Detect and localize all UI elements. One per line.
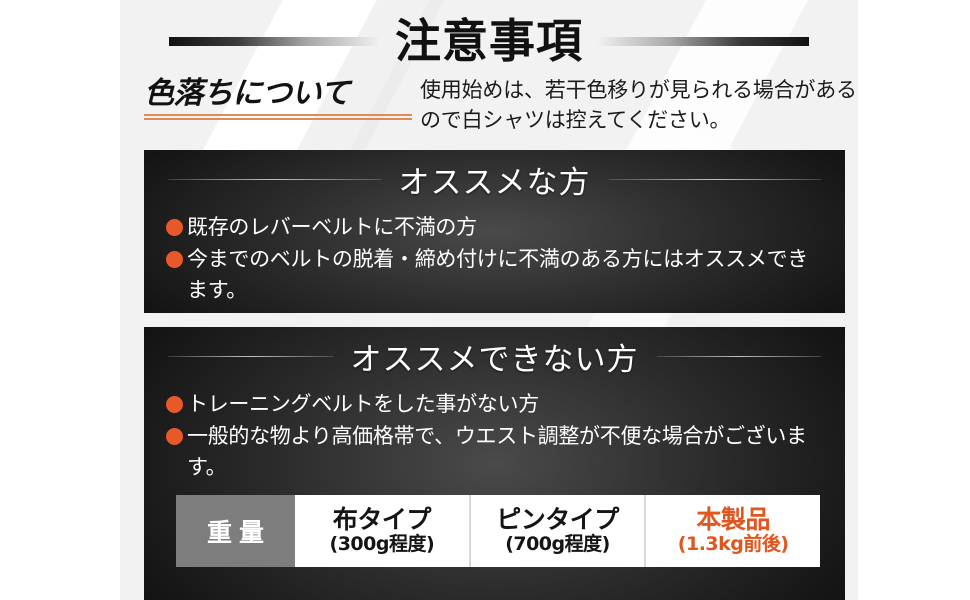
panel-rule-left-icon bbox=[168, 179, 381, 180]
list-item-label: 一般的な物より高価格帯で、ウエスト調整が不便な場合がございます。 bbox=[187, 421, 819, 482]
list-item: 今までのベルトの脱着・締め付けに不満のある方にはオススメできます。 bbox=[166, 244, 819, 305]
table-row-label: 重量 bbox=[176, 495, 295, 567]
title-rule-right-icon bbox=[597, 37, 809, 46]
page-title: 注意事項 bbox=[381, 18, 597, 64]
bullet-dot-icon bbox=[166, 396, 183, 413]
table-cell-cloth-type: 布タイプ (300g程度) bbox=[295, 495, 471, 567]
list-item-label: トレーニングベルトをした事がない方 bbox=[187, 389, 819, 419]
bullet-dot-icon bbox=[166, 219, 183, 236]
table-cell-pin-type: ピンタイプ (700g程度) bbox=[471, 495, 647, 567]
table-cell-value: (1.3kg前後) bbox=[678, 534, 789, 556]
list-item-label: 既存のレバーベルトに不満の方 bbox=[187, 212, 819, 242]
page-title-row: 注意事項 bbox=[120, 8, 858, 74]
panel-not-recommended-title: オススメできない方 bbox=[333, 334, 657, 379]
list-item-label: 今までのベルトの脱着・締め付けに不満のある方にはオススメできます。 bbox=[187, 244, 819, 305]
panel-recommended: オススメな方 既存のレバーベルトに不満の方 今までのベルトの脱着・締め付けに不満… bbox=[144, 150, 845, 313]
panel-rule-left-icon bbox=[168, 356, 333, 357]
panel-recommended-title: オススメな方 bbox=[381, 157, 609, 202]
table-cell-this-product: 本製品 (1.3kg前後) bbox=[646, 495, 820, 567]
table-cell-name: 本製品 bbox=[696, 506, 770, 534]
bullet-dot-icon bbox=[166, 251, 183, 268]
table-cell-name: ピンタイプ bbox=[496, 506, 619, 534]
header-description: 使用始めは、若干色移りが見られる場合があるので白シャツは控えてください。 bbox=[420, 72, 858, 136]
weight-comparison-table: 重量 布タイプ (300g程度) ピンタイプ (700g程度) 本製品 (1.3… bbox=[176, 495, 820, 567]
table-cell-name: 布タイプ bbox=[333, 506, 431, 534]
panel-rule-right-icon bbox=[609, 179, 822, 180]
table-cell-value: (300g程度) bbox=[330, 534, 435, 556]
list-item: トレーニングベルトをした事がない方 bbox=[166, 389, 819, 419]
table-cell-value: (700g程度) bbox=[505, 534, 610, 556]
subtitle-underline bbox=[144, 114, 412, 120]
title-rule-left-icon bbox=[169, 37, 381, 46]
subtitle: 色落ちについて bbox=[144, 78, 420, 110]
list-item: 既存のレバーベルトに不満の方 bbox=[166, 212, 819, 242]
panel-recommended-header: オススメな方 bbox=[144, 150, 845, 208]
list-item: 一般的な物より高価格帯で、ウエスト調整が不便な場合がございます。 bbox=[166, 421, 819, 482]
panel-recommended-bullets: 既存のレバーベルトに不満の方 今までのベルトの脱着・締め付けに不満のある方にはオ… bbox=[144, 208, 845, 305]
panel-rule-right-icon bbox=[657, 356, 822, 357]
infographic-page: 注意事項 色落ちについて 使用始めは、若干色移りが見られる場合があるので白シャツ… bbox=[0, 0, 970, 600]
panel-not-recommended-header: オススメできない方 bbox=[144, 327, 845, 385]
bullet-dot-icon bbox=[166, 428, 183, 445]
subtitle-row: 色落ちについて 使用始めは、若干色移りが見られる場合があるので白シャツは控えてく… bbox=[144, 72, 858, 134]
subtitle-block: 色落ちについて bbox=[144, 72, 420, 120]
panel-not-recommended-bullets: トレーニングベルトをした事がない方 一般的な物より高価格帯で、ウエスト調整が不便… bbox=[144, 385, 845, 482]
